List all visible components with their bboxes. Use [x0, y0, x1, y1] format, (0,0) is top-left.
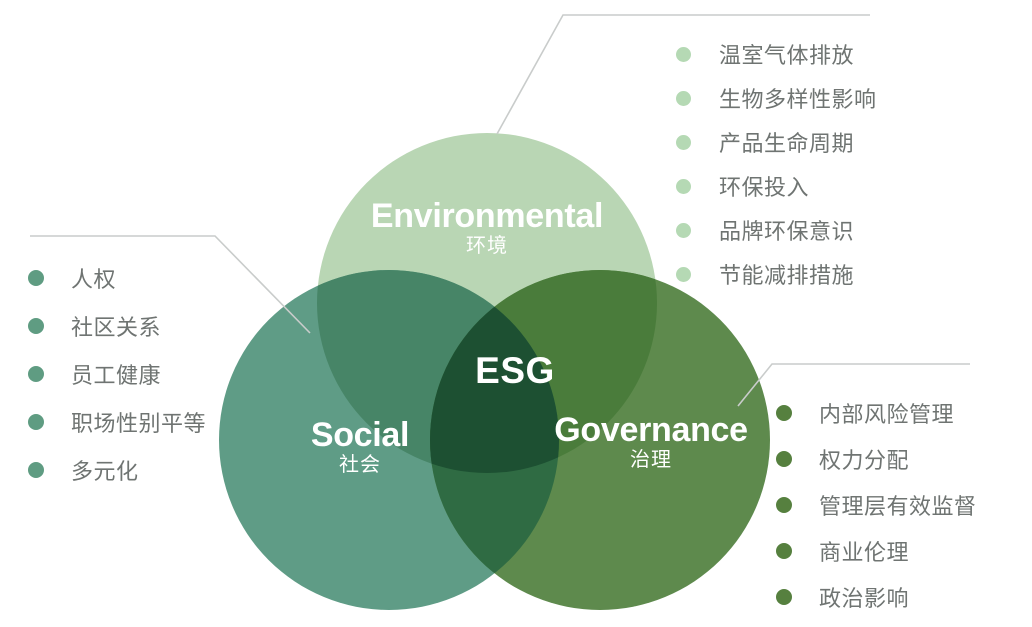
- list-item-label: 人权: [71, 262, 116, 294]
- bullet-dot-icon: [676, 179, 691, 194]
- list-item: 职场性别平等: [28, 398, 206, 446]
- list-item-label: 环保投入: [719, 170, 809, 202]
- list-item-label: 职场性别平等: [71, 406, 206, 438]
- list-item-label: 政治影响: [819, 581, 909, 613]
- list-item-label: 社区关系: [71, 310, 161, 342]
- list-item: 政治影响: [776, 574, 977, 620]
- list-item: 社区关系: [28, 302, 206, 350]
- list-item-label: 产品生命周期: [719, 126, 854, 158]
- list-environmental: 温室气体排放生物多样性影响产品生命周期环保投入品牌环保意识节能减排措施: [676, 32, 877, 296]
- bullet-dot-icon: [676, 267, 691, 282]
- list-item-label: 多元化: [71, 454, 139, 486]
- bullet-dot-icon: [676, 47, 691, 62]
- bullet-dot-icon: [28, 414, 44, 430]
- list-item: 多元化: [28, 446, 206, 494]
- list-governance: 内部风险管理权力分配管理层有效监督商业伦理政治影响: [776, 390, 977, 620]
- bullet-dot-icon: [776, 405, 792, 421]
- list-item: 权力分配: [776, 436, 977, 482]
- list-item: 产品生命周期: [676, 120, 877, 164]
- list-item: 管理层有效监督: [776, 482, 977, 528]
- list-item-label: 管理层有效监督: [819, 489, 977, 521]
- bullet-dot-icon: [28, 462, 44, 478]
- bullet-dot-icon: [28, 270, 44, 286]
- bullet-dot-icon: [776, 497, 792, 513]
- list-item: 人权: [28, 254, 206, 302]
- list-item-label: 节能减排措施: [719, 258, 854, 290]
- list-item-label: 品牌环保意识: [719, 214, 854, 246]
- bullet-dot-icon: [28, 366, 44, 382]
- list-item: 生物多样性影响: [676, 76, 877, 120]
- bullet-dot-icon: [776, 589, 792, 605]
- list-item: 环保投入: [676, 164, 877, 208]
- list-item: 内部风险管理: [776, 390, 977, 436]
- list-item: 员工健康: [28, 350, 206, 398]
- list-item-label: 员工健康: [71, 358, 161, 390]
- bullet-dot-icon: [676, 91, 691, 106]
- bullet-dot-icon: [676, 135, 691, 150]
- bullet-dot-icon: [776, 451, 792, 467]
- list-item: 商业伦理: [776, 528, 977, 574]
- list-item: 温室气体排放: [676, 32, 877, 76]
- list-social: 人权社区关系员工健康职场性别平等多元化: [28, 254, 206, 494]
- list-item: 品牌环保意识: [676, 208, 877, 252]
- esg-venn-diagram-page: Environmental 环境 Social 社会 Governance 治理…: [0, 0, 1032, 627]
- list-item: 节能减排措施: [676, 252, 877, 296]
- bullet-dot-icon: [676, 223, 691, 238]
- bullet-dot-icon: [28, 318, 44, 334]
- list-item-label: 生物多样性影响: [719, 82, 877, 114]
- list-item-label: 商业伦理: [819, 535, 909, 567]
- bullet-dot-icon: [776, 543, 792, 559]
- list-item-label: 权力分配: [819, 443, 909, 475]
- list-item-label: 温室气体排放: [719, 38, 854, 70]
- list-item-label: 内部风险管理: [819, 397, 954, 429]
